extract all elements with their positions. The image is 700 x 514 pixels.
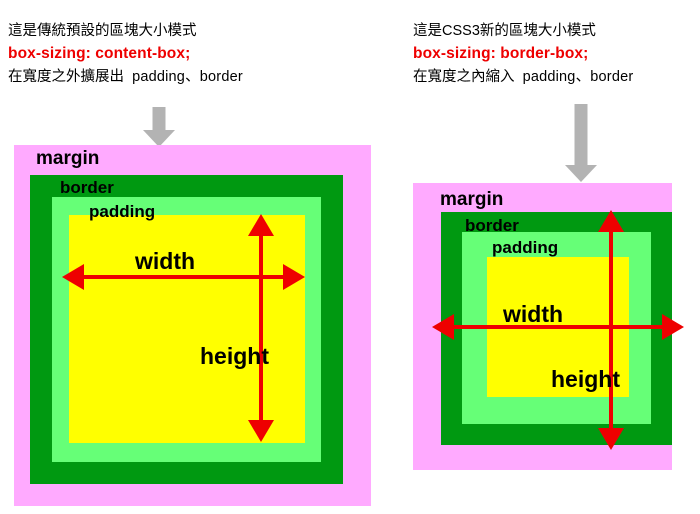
left-padding-box: [52, 197, 321, 462]
right-caption-block: 這是CSS3新的區塊大小模式 box-sizing: border-box; 在…: [413, 20, 700, 89]
right-margin-label: margin: [440, 190, 503, 209]
left-margin-box: margin border padding: [14, 145, 371, 506]
grey-arrow-shaft: [153, 107, 166, 131]
right-height-arrow-line: [609, 221, 613, 439]
right-caption-line-3-prefix: 在寬度之內縮入: [413, 69, 515, 85]
left-caption-line-3-prefix: 在寬度之外擴展出: [8, 69, 124, 85]
left-border-box: [30, 175, 343, 484]
right-caption-code: box-sizing: border-box;: [413, 42, 700, 66]
left-margin-label: margin: [36, 149, 99, 168]
left-caption-line-1: 這是傳統預設的區塊大小模式: [8, 20, 388, 42]
left-caption-line-3: 在寬度之外擴展出 padding、border: [8, 66, 388, 88]
left-padding-label: padding: [89, 203, 155, 220]
left-height-arrow-head-bottom: [248, 420, 274, 442]
right-height-arrow-head-bottom: [598, 428, 624, 450]
grey-arrow-shaft: [575, 104, 588, 166]
right-caption-line-1: 這是CSS3新的區塊大小模式: [413, 20, 700, 42]
left-caption-code: box-sizing: content-box;: [8, 42, 388, 66]
left-height-arrow-line: [259, 225, 263, 431]
left-caption-block: 這是傳統預設的區塊大小模式 box-sizing: content-box; 在…: [8, 20, 388, 89]
grey-arrow-head: [565, 165, 597, 182]
right-width-label: width: [503, 303, 563, 326]
left-width-label: width: [135, 250, 195, 273]
left-width-arrow-head-right: [283, 264, 305, 290]
right-width-arrow-head-right: [662, 314, 684, 340]
right-caption-line-3: 在寬度之內縮入 padding、border: [413, 66, 700, 88]
left-caption-line-3-terms: padding、border: [132, 69, 243, 85]
grey-down-arrow-icon: [143, 107, 175, 147]
right-caption-line-3-terms: padding、border: [523, 69, 634, 85]
right-border-label: border: [465, 217, 519, 234]
right-padding-label: padding: [492, 239, 558, 256]
right-height-label: height: [551, 368, 620, 391]
grey-down-arrow-icon: [565, 104, 597, 182]
content-box-panel: 這是傳統預設的區塊大小模式 box-sizing: content-box; 在…: [0, 0, 400, 514]
left-border-label: border: [60, 179, 114, 196]
left-height-label: height: [200, 345, 269, 368]
